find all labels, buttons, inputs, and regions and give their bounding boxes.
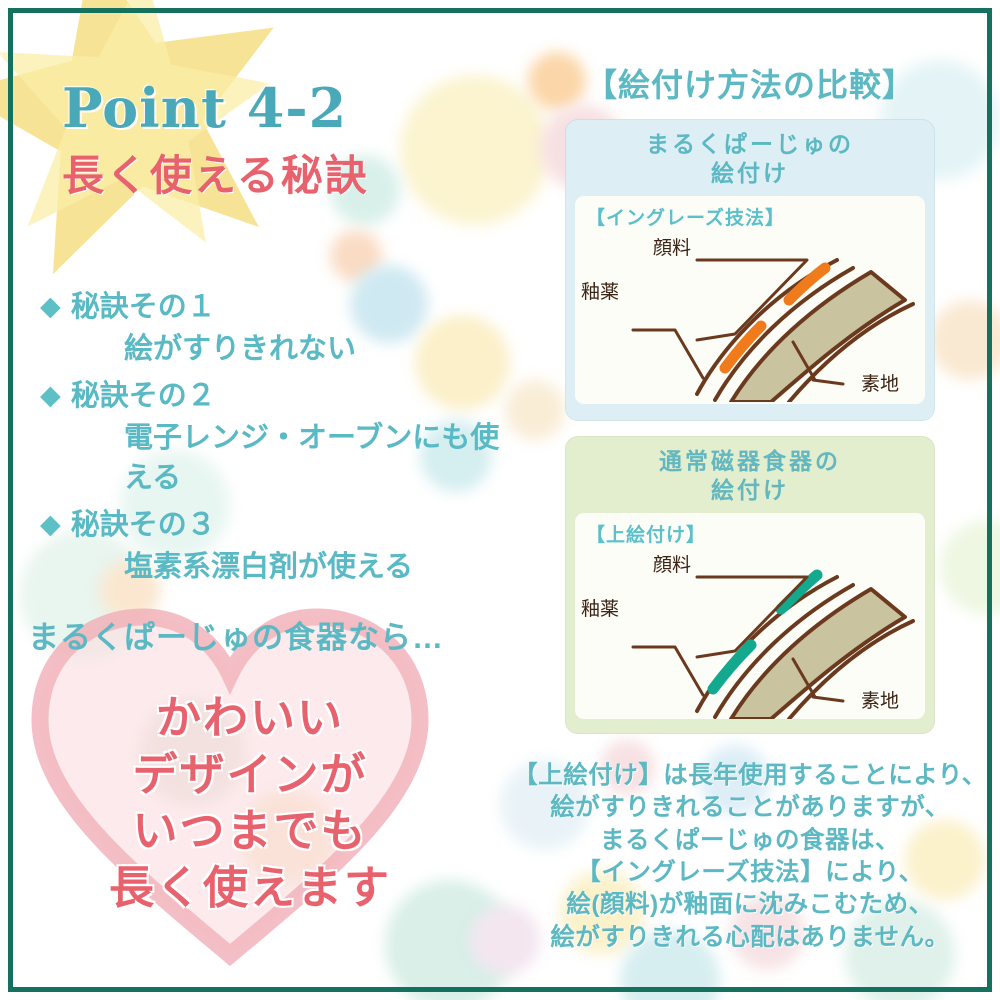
card-header-line: まるくぱーじゅの: [572, 130, 928, 159]
paragraph-line: 絵がすりきれる心配はありません。: [508, 922, 992, 954]
explanation-paragraph: 【上絵付け】は長年使用することにより、 絵がすりきれることがありますが、 まるく…: [508, 760, 992, 954]
diagram-inglaze-cross-section: 釉薬 顔料 素地: [575, 222, 925, 402]
page-subtitle: 長く使える秘訣: [62, 142, 369, 203]
highlight-line: かわいい: [0, 690, 500, 747]
label-pigment: 顔料: [653, 554, 691, 576]
page-title: Point 4-2: [62, 76, 347, 140]
card-header-line: 絵付け: [572, 476, 928, 505]
list-item-body: 塩素系漂白剤が使える: [124, 547, 500, 587]
label-pigment: 顔料: [653, 237, 691, 259]
list-item: ◆ 秘訣その２ 電子レンジ・オーブンにも使える: [40, 377, 500, 498]
comparison-title: 【絵付け方法の比較】: [500, 60, 1000, 106]
list-item-head: 秘訣その３: [71, 506, 216, 545]
paragraph-line: 【イングレーズ技法】により、: [508, 857, 992, 889]
paragraph-line: 絵がすりきれることがありますが、: [508, 792, 992, 824]
highlight-line: いつまでも: [0, 803, 500, 860]
diamond-bullet-icon: ◆: [40, 288, 61, 324]
lead-in-text: まるくぱーじゅの食器なら…: [28, 612, 444, 657]
highlight-message: かわいい デザインが いつまでも 長く使えます: [0, 690, 500, 917]
highlight-line: 長く使えます: [0, 860, 500, 917]
list-item: ◆ 秘訣その３ 塩素系漂白剤が使える: [40, 506, 500, 587]
list-item-body: 電子レンジ・オーブンにも使える: [124, 418, 500, 498]
list-item: ◆ 秘訣その１ 絵がすりきれない: [40, 288, 500, 369]
paragraph-line: 【上絵付け】は長年使用することにより、: [508, 760, 992, 792]
label-glaze: 釉薬: [581, 281, 619, 303]
paragraph-line: 絵(顔料)が釉面に沈みこむため、: [508, 889, 992, 921]
card-overglaze-body: 【上絵付け】: [575, 513, 925, 719]
card-inglaze-body: 【イングレーズ技法】: [575, 196, 925, 404]
card-overglaze-header: 通常磁器食器の 絵付け: [566, 437, 934, 513]
card-inglaze-header: まるくぱーじゅの 絵付け: [566, 120, 934, 196]
label-glaze: 釉薬: [581, 598, 619, 620]
diagram-overglaze-cross-section: 釉薬 顔料 素地: [575, 539, 925, 719]
secrets-list: ◆ 秘訣その１ 絵がすりきれない ◆ 秘訣その２ 電子レンジ・オーブンにも使える…: [40, 288, 500, 595]
card-header-line: 絵付け: [572, 159, 928, 188]
card-header-line: 通常磁器食器の: [572, 447, 928, 476]
list-item-body: 絵がすりきれない: [124, 329, 500, 369]
label-body: 素地: [861, 690, 899, 712]
card-inglaze: まるくぱーじゅの 絵付け 【イングレーズ技法】: [566, 120, 934, 420]
paragraph-line: まるくぱーじゅの食器は、: [508, 825, 992, 857]
card-overglaze: 通常磁器食器の 絵付け 【上絵付け】: [566, 437, 934, 733]
list-item-head: 秘訣その２: [71, 377, 216, 416]
right-column: 【絵付け方法の比較】 まるくぱーじゅの 絵付け 【イングレーズ技法】: [500, 0, 1000, 1000]
left-column: Point 4-2 長く使える秘訣 ◆ 秘訣その１ 絵がすりきれない ◆ 秘訣そ…: [0, 0, 500, 1000]
diamond-bullet-icon: ◆: [40, 377, 61, 413]
diamond-bullet-icon: ◆: [40, 506, 61, 542]
list-item-head: 秘訣その１: [71, 288, 216, 327]
highlight-line: デザインが: [0, 747, 500, 804]
label-body: 素地: [861, 373, 899, 395]
infographic-page: Point 4-2 長く使える秘訣 ◆ 秘訣その１ 絵がすりきれない ◆ 秘訣そ…: [0, 0, 1000, 1000]
